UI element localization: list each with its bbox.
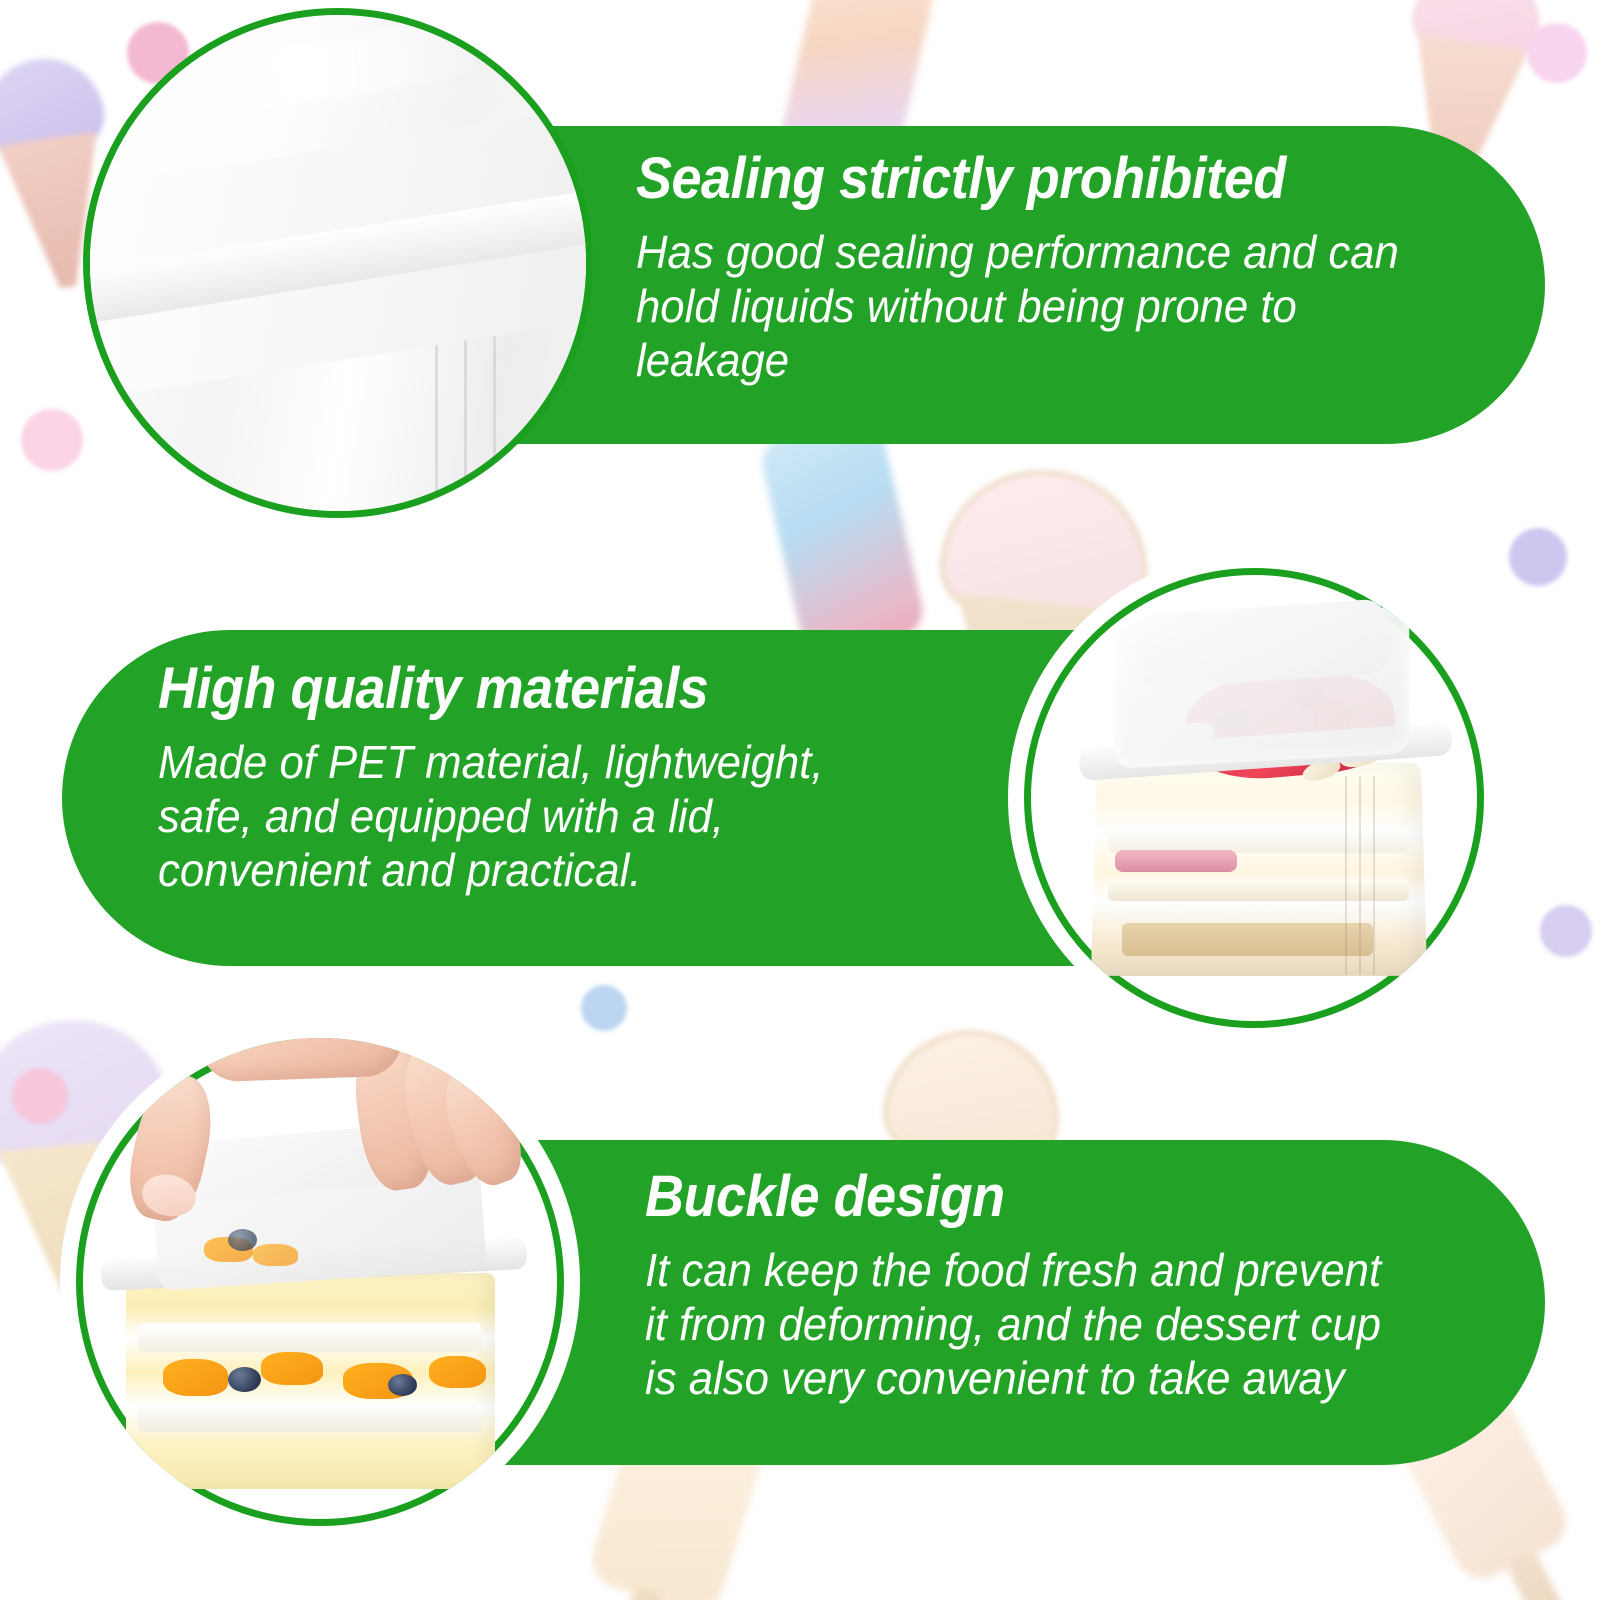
feature-title-materials: High quality materials — [158, 660, 893, 718]
feature-body-sealing: Has good sealing performance and can hol… — [636, 226, 1406, 387]
clear-lid-photo-content — [90, 15, 586, 511]
blue-dot-center-icon — [581, 985, 627, 1031]
hand-lid-photo-content — [76, 1038, 564, 1526]
pink-dot-top-right-icon — [1527, 23, 1587, 83]
lavender-dot-right-icon — [1509, 528, 1567, 586]
pink-dot-mid-left-icon — [21, 409, 83, 471]
lavender-dot-mid-right-icon — [1540, 905, 1592, 957]
feature-body-materials: Made of PET material, lightweight, safe,… — [158, 736, 909, 897]
feature-title-sealing: Sealing strictly prohibited — [636, 150, 1389, 208]
feature-body-buckle: It can keep the food fresh and prevent i… — [645, 1244, 1415, 1405]
feature-text-buckle: Buckle design It can keep the food fresh… — [645, 1168, 1455, 1405]
clear-lid-closeup-photo — [83, 8, 593, 518]
hand-lifting-lid-photo — [60, 1022, 580, 1542]
feature-title-buckle: Buckle design — [645, 1168, 1398, 1226]
feature-text-materials: High quality materials Made of PET mater… — [158, 660, 948, 897]
feature-text-sealing: Sealing strictly prohibited Has good sea… — [636, 150, 1446, 387]
berry-cup-photo-content — [1024, 568, 1484, 1028]
berry-dessert-cup-photo — [1008, 552, 1500, 1044]
infographic-canvas: Sealing strictly prohibited Has good sea… — [0, 0, 1600, 1600]
pink-dot-bottom-left-icon — [12, 1068, 68, 1124]
